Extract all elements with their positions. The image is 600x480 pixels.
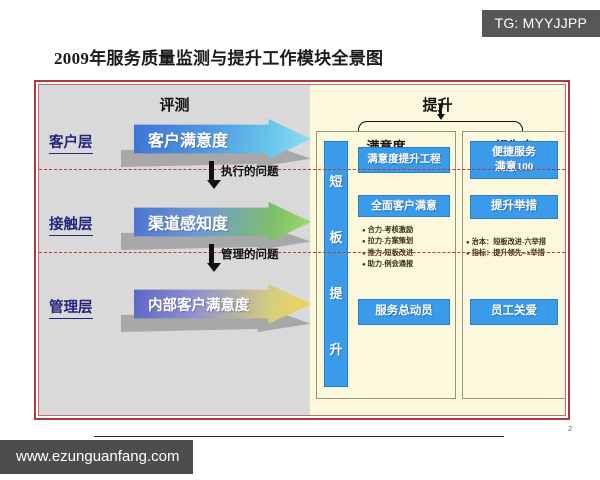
transition-label-management: 管理的问题 [221,246,279,262]
diagram-frame: 评测 客户层 接触层 管理层 客户满意度 渠道感知度 内部客户满意度 [34,80,570,420]
page-title: 2009年服务质量监测与提升工作模块全景图 [26,44,574,69]
divider-management [39,252,565,253]
box-improvement-measures[interactable]: 提升举措 [470,195,558,219]
diagram-inner-frame: 评测 客户层 接触层 管理层 客户满意度 渠道感知度 内部客户满意度 [38,84,566,416]
list-item: 合力-考核激励 [362,225,413,236]
layer-label-management: 管理层 [49,296,93,319]
telegram-watermark: TG: MYYJJPP [482,10,600,37]
box-service-mobilization[interactable]: 服务总动员 [358,299,450,325]
vbar-char: 板 [329,227,342,246]
site-watermark: www.ezunguanfang.com [0,440,193,474]
layer-label-contact: 接触层 [49,213,93,236]
arrow-label: 内部客户满意度 [148,294,250,315]
layer-label-customer: 客户层 [49,131,93,154]
brace-group [310,113,565,131]
box-employee-care[interactable]: 员工关爱 [470,299,558,325]
divider-execution [39,169,565,170]
list-item: 治本：短板改进-六举措 [466,237,546,248]
box-line-2: 满意100 [495,160,534,175]
improvement-column: 提升 短 板 提 升 满意度 [310,85,565,415]
evaluation-column: 评测 客户层 接触层 管理层 客户满意度 渠道感知度 内部客户满意度 [39,85,310,415]
down-arrow-icon-execution [207,161,216,189]
down-arrow-icon-brace [436,104,445,120]
vertical-bar-shortboard-improvement[interactable]: 短 板 提 升 [324,141,348,387]
page-number: 2 [568,426,572,433]
arrow-label: 客户满意度 [148,127,228,151]
box-line-1: 便捷服务 [492,145,536,160]
leading-bullet-list: 治本：短板改进-六举措 指标：提升领先--x举措 [466,237,546,260]
down-arrow-icon-management [207,244,216,272]
slide: 2009年服务质量监测与提升工作模块全景图 2 评测 客户层 接触层 管理层 客… [26,44,574,434]
box-total-customer-satisfaction[interactable]: 全面客户满意 [358,195,450,217]
evaluation-header: 评测 [39,85,310,115]
vbar-char: 提 [329,283,342,302]
list-item: 助力-例会通报 [362,259,413,270]
title-underline-rule [94,436,504,437]
transition-label-execution: 执行的问题 [221,163,279,179]
arrow-label: 渠道感知度 [148,210,228,234]
box-convenient-service[interactable]: 便捷服务 满意100 [470,141,558,179]
list-item: 指标：提升领先--x举措 [466,248,546,259]
list-item: 拉力-方案策划 [362,236,413,247]
brace-icon [358,121,523,131]
list-item: 推力-短板改进 [362,248,413,259]
vbar-char: 升 [329,339,342,358]
vbar-char: 短 [329,171,342,190]
satisfaction-bullet-list: 合力-考核激励 拉力-方案策划 推力-短板改进 助力-例会通报 [362,225,413,270]
